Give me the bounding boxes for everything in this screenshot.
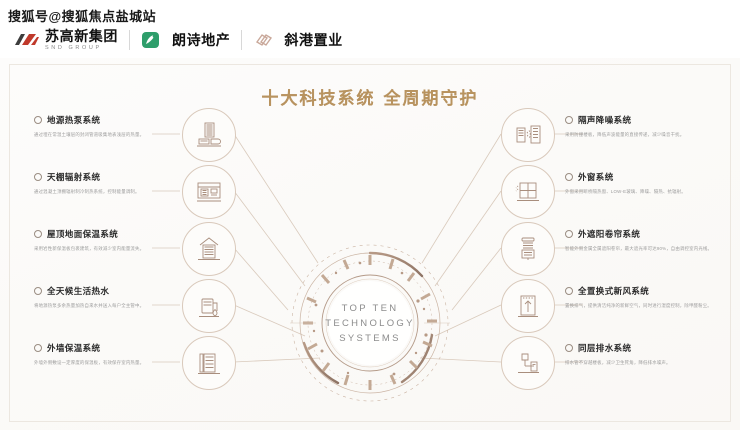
item-desc: 智能外侧金属全属遮阳卷帘，最大遮光率可达90%，自由调控室内光线。 xyxy=(565,245,740,252)
item-title: 天棚辐射系统 xyxy=(47,171,100,183)
bullet-icon xyxy=(34,116,42,124)
window-icon xyxy=(513,177,543,207)
page-title-sub: 全周期守护 xyxy=(384,89,479,108)
list-item[interactable]: 全置换式新风系统 置换排气，提供清洁纯净的新鲜空气，同时进行湿度控制，除甲醛粉尘… xyxy=(565,285,740,309)
icon-soundproof[interactable] xyxy=(501,108,555,162)
wall-insulation-icon xyxy=(194,348,224,378)
icon-roof-insulation[interactable] xyxy=(182,222,236,276)
icon-hot-water[interactable] xyxy=(182,279,236,333)
icon-ceiling-radiant[interactable] xyxy=(182,165,236,219)
page-title-main: 十大科技系统 xyxy=(262,89,376,108)
list-item[interactable]: 外窗系统 外窗采用断桥隔热窗、LOW-E玻璃、降噪、隔热、抗辐射。 xyxy=(565,171,740,195)
page-root: 搜狐号@搜狐焦点盐城站 苏高新集团 SND GROUP xyxy=(0,0,740,430)
logo-snd-cn: 苏高新集团 xyxy=(45,29,118,43)
item-title: 地源热泵系统 xyxy=(47,114,100,126)
icon-building-pump[interactable] xyxy=(182,108,236,162)
icon-wall-insulation[interactable] xyxy=(182,336,236,390)
building-pump-icon xyxy=(194,120,224,150)
item-title: 外窗系统 xyxy=(578,171,614,183)
item-desc: 置换排气，提供清洁纯净的新鲜空气，同时进行湿度控制，除甲醛粉尘。 xyxy=(565,302,740,309)
main-panel: 十大科技系统全周期守护 xyxy=(0,58,740,430)
icon-drainage[interactable] xyxy=(501,336,555,390)
item-title: 隔声降噪系统 xyxy=(578,114,631,126)
landsea-logo-icon xyxy=(141,31,167,49)
hub-line-1: TOP TEN xyxy=(342,301,399,316)
top-bar: 搜狐号@搜狐焦点盐城站 苏高新集团 SND GROUP xyxy=(0,0,740,58)
logo-divider-1 xyxy=(129,30,130,50)
center-hub: TOP TEN TECHNOLOGY SYSTEMS xyxy=(290,243,450,403)
item-title: 同层排水系统 xyxy=(578,342,631,354)
item-title: 全天候生活热水 xyxy=(47,285,109,297)
list-item[interactable]: 隔声降噪系统 采用防撞楼板，降低声波能量的直接传递，减少噪音干扰。 xyxy=(565,114,740,138)
item-desc: 排水管不穿越楼板，减少卫生死角，降低排水噪声。 xyxy=(565,359,740,366)
bullet-icon xyxy=(34,173,42,181)
item-desc: 外窗采用断桥隔热窗、LOW-E玻璃、降噪、隔热、抗辐射。 xyxy=(565,188,740,195)
bullet-icon xyxy=(565,344,573,352)
bullet-icon xyxy=(565,287,573,295)
bullet-icon xyxy=(565,116,573,124)
bullet-icon xyxy=(565,173,573,181)
item-title: 屋顶地面保温系统 xyxy=(47,228,118,240)
item-title: 外遮阳卷帘系统 xyxy=(578,228,640,240)
item-desc: 采用防撞楼板，降低声波能量的直接传递，减少噪音干扰。 xyxy=(565,131,740,138)
logo-landsea[interactable]: 朗诗地产 xyxy=(141,31,230,49)
fresh-air-icon xyxy=(513,291,543,321)
page-title: 十大科技系统全周期守护 xyxy=(0,84,740,109)
icon-window[interactable] xyxy=(501,165,555,219)
sohu-account-label: 搜狐号@搜狐焦点盐城站 xyxy=(8,6,156,25)
bullet-icon xyxy=(565,230,573,238)
logo-snd-en: SND GROUP xyxy=(45,44,118,52)
xiegang-logo-icon xyxy=(253,31,279,49)
icon-shading-roller[interactable] xyxy=(501,222,555,276)
drainage-icon xyxy=(513,348,543,378)
logo-xiegang[interactable]: 斜港置业 xyxy=(253,31,342,49)
snd-logo-icon xyxy=(14,31,40,49)
hub-line-2: TECHNOLOGY xyxy=(325,316,415,331)
bullet-icon xyxy=(34,287,42,295)
list-item[interactable]: 同层排水系统 排水管不穿越楼板，减少卫生死角，降低排水噪声。 xyxy=(565,342,740,366)
shading-roller-icon xyxy=(513,234,543,264)
bullet-icon xyxy=(34,344,42,352)
logo-landsea-cn: 朗诗地产 xyxy=(172,33,230,47)
soundproof-icon xyxy=(512,120,544,150)
item-title: 外墙保温系统 xyxy=(47,342,100,354)
hub-line-3: SYSTEMS xyxy=(339,331,401,346)
hot-water-icon xyxy=(194,291,224,321)
logo-snd[interactable]: 苏高新集团 SND GROUP xyxy=(14,29,118,52)
list-item[interactable]: 外遮阳卷帘系统 智能外侧金属全属遮阳卷帘，最大遮光率可达90%，自由调控室内光线… xyxy=(565,228,740,252)
icon-fresh-air[interactable] xyxy=(501,279,555,333)
item-title: 全置换式新风系统 xyxy=(578,285,649,297)
roof-insulation-icon xyxy=(194,234,224,264)
logo-divider-2 xyxy=(241,30,242,50)
logo-xiegang-cn: 斜港置业 xyxy=(284,33,342,47)
ceiling-radiant-icon xyxy=(194,177,224,207)
bullet-icon xyxy=(34,230,42,238)
logo-row: 苏高新集团 SND GROUP 朗诗地产 xyxy=(14,28,343,52)
hub-label: TOP TEN TECHNOLOGY SYSTEMS xyxy=(290,243,450,403)
